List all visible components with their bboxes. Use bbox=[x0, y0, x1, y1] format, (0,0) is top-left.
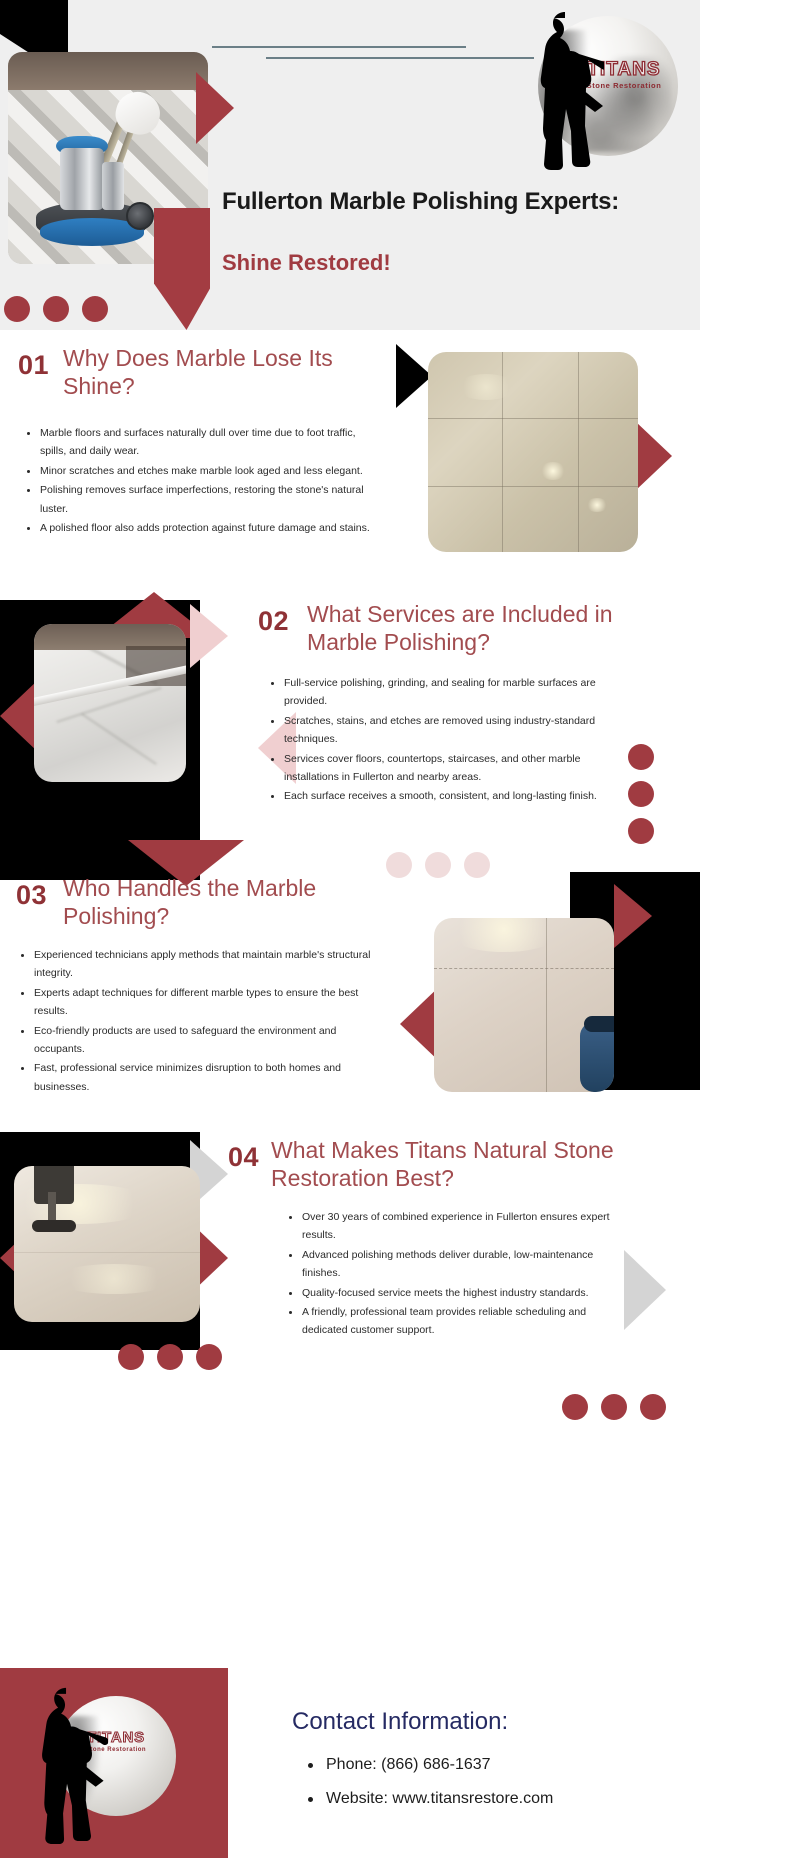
contact-website: Website: www.titansrestore.com bbox=[300, 1791, 720, 1807]
contact-phone: Phone: (866) 686-1637 bbox=[300, 1757, 720, 1773]
list-item: Polishing removes surface imperfections,… bbox=[24, 481, 372, 518]
hero-dot-decoration bbox=[4, 296, 108, 322]
worker-silhouette-icon bbox=[532, 6, 604, 172]
section-03-header: 03 Who Handles the Marble Polishing? bbox=[16, 874, 386, 930]
list-item: Over 30 years of combined experience in … bbox=[286, 1208, 616, 1245]
section-01-header: 01 Why Does Marble Lose Its Shine? bbox=[18, 344, 378, 400]
list-item: Eco-friendly products are used to safegu… bbox=[18, 1022, 390, 1059]
section-01-photo bbox=[428, 352, 638, 552]
red-dot-decoration bbox=[118, 1344, 222, 1370]
list-item: Full-service polishing, grinding, and se… bbox=[268, 674, 616, 711]
section-03-photo bbox=[434, 918, 614, 1092]
worker-silhouette-icon bbox=[30, 1682, 108, 1846]
red-arrow-decoration bbox=[0, 680, 38, 752]
section-04-bullets: Over 30 years of combined experience in … bbox=[286, 1208, 616, 1341]
vertical-dot-decoration bbox=[628, 744, 654, 844]
list-item: Quality-focused service meets the highes… bbox=[286, 1284, 616, 1302]
list-item: Advanced polishing methods deliver durab… bbox=[286, 1246, 616, 1283]
section-04-photo bbox=[14, 1166, 200, 1322]
section-04-header: 04 What Makes Titans Natural Stone Resto… bbox=[228, 1136, 648, 1192]
section-01-number: 01 bbox=[18, 350, 49, 380]
red-wedge-decoration bbox=[154, 208, 210, 330]
section-02-photo bbox=[34, 624, 186, 782]
section-02-header: 02 What Services are Included in Marble … bbox=[258, 600, 678, 656]
red-arrow-decoration bbox=[614, 884, 652, 948]
header-rule-lines bbox=[212, 46, 512, 59]
list-item: Fast, professional service minimizes dis… bbox=[18, 1059, 390, 1096]
list-item: Scratches, stains, and etches are remove… bbox=[268, 712, 616, 749]
section-02-title: What Services are Included in Marble Pol… bbox=[307, 600, 657, 656]
titans-logo: TITANS Stone Restoration bbox=[526, 6, 678, 172]
section-02-number: 02 bbox=[258, 606, 289, 636]
footer-logo-card: TITANS Stone Restoration bbox=[0, 1668, 228, 1858]
hero-title: Fullerton Marble Polishing Experts: bbox=[222, 188, 652, 216]
contact-list: Phone: (866) 686-1637 Website: www.titan… bbox=[300, 1757, 720, 1825]
hero-subtitle: Shine Restored! bbox=[222, 250, 391, 276]
list-item: Marble floors and surfaces naturally dul… bbox=[24, 424, 372, 461]
grey-arrow-decoration bbox=[624, 1250, 666, 1330]
list-item: Minor scratches and etches make marble l… bbox=[24, 462, 372, 480]
red-arrow-decoration bbox=[634, 420, 672, 492]
section-01-title: Why Does Marble Lose Its Shine? bbox=[63, 344, 363, 400]
section-01-bullets: Marble floors and surfaces naturally dul… bbox=[24, 424, 372, 538]
section-04-number: 04 bbox=[228, 1142, 259, 1172]
list-item: Services cover floors, countertops, stai… bbox=[268, 750, 616, 787]
red-dot-decoration bbox=[562, 1394, 666, 1420]
section-03-number: 03 bbox=[16, 880, 47, 910]
list-item: A polished floor also adds protection ag… bbox=[24, 519, 372, 537]
section-03-title: Who Handles the Marble Polishing? bbox=[63, 874, 363, 930]
section-03-bullets: Experienced technicians apply methods th… bbox=[18, 946, 390, 1097]
pink-arrow-decoration bbox=[190, 604, 228, 668]
black-arrow-decoration bbox=[396, 344, 432, 408]
hero-banner: Fullerton Marble Polishing Experts: Shin… bbox=[0, 0, 700, 330]
red-arrow-decoration bbox=[196, 72, 234, 144]
infographic-page: Fullerton Marble Polishing Experts: Shin… bbox=[0, 0, 800, 1858]
list-item: A friendly, professional team provides r… bbox=[286, 1303, 616, 1340]
list-item: Each surface receives a smooth, consiste… bbox=[268, 787, 616, 805]
pink-dot-decoration bbox=[386, 852, 490, 878]
list-item: Experts adapt techniques for different m… bbox=[18, 984, 390, 1021]
section-02-bullets: Full-service polishing, grinding, and se… bbox=[268, 674, 616, 807]
list-item: Experienced technicians apply methods th… bbox=[18, 946, 390, 983]
section-04-title: What Makes Titans Natural Stone Restorat… bbox=[271, 1136, 631, 1192]
contact-heading: Contact Information: bbox=[292, 1708, 508, 1736]
